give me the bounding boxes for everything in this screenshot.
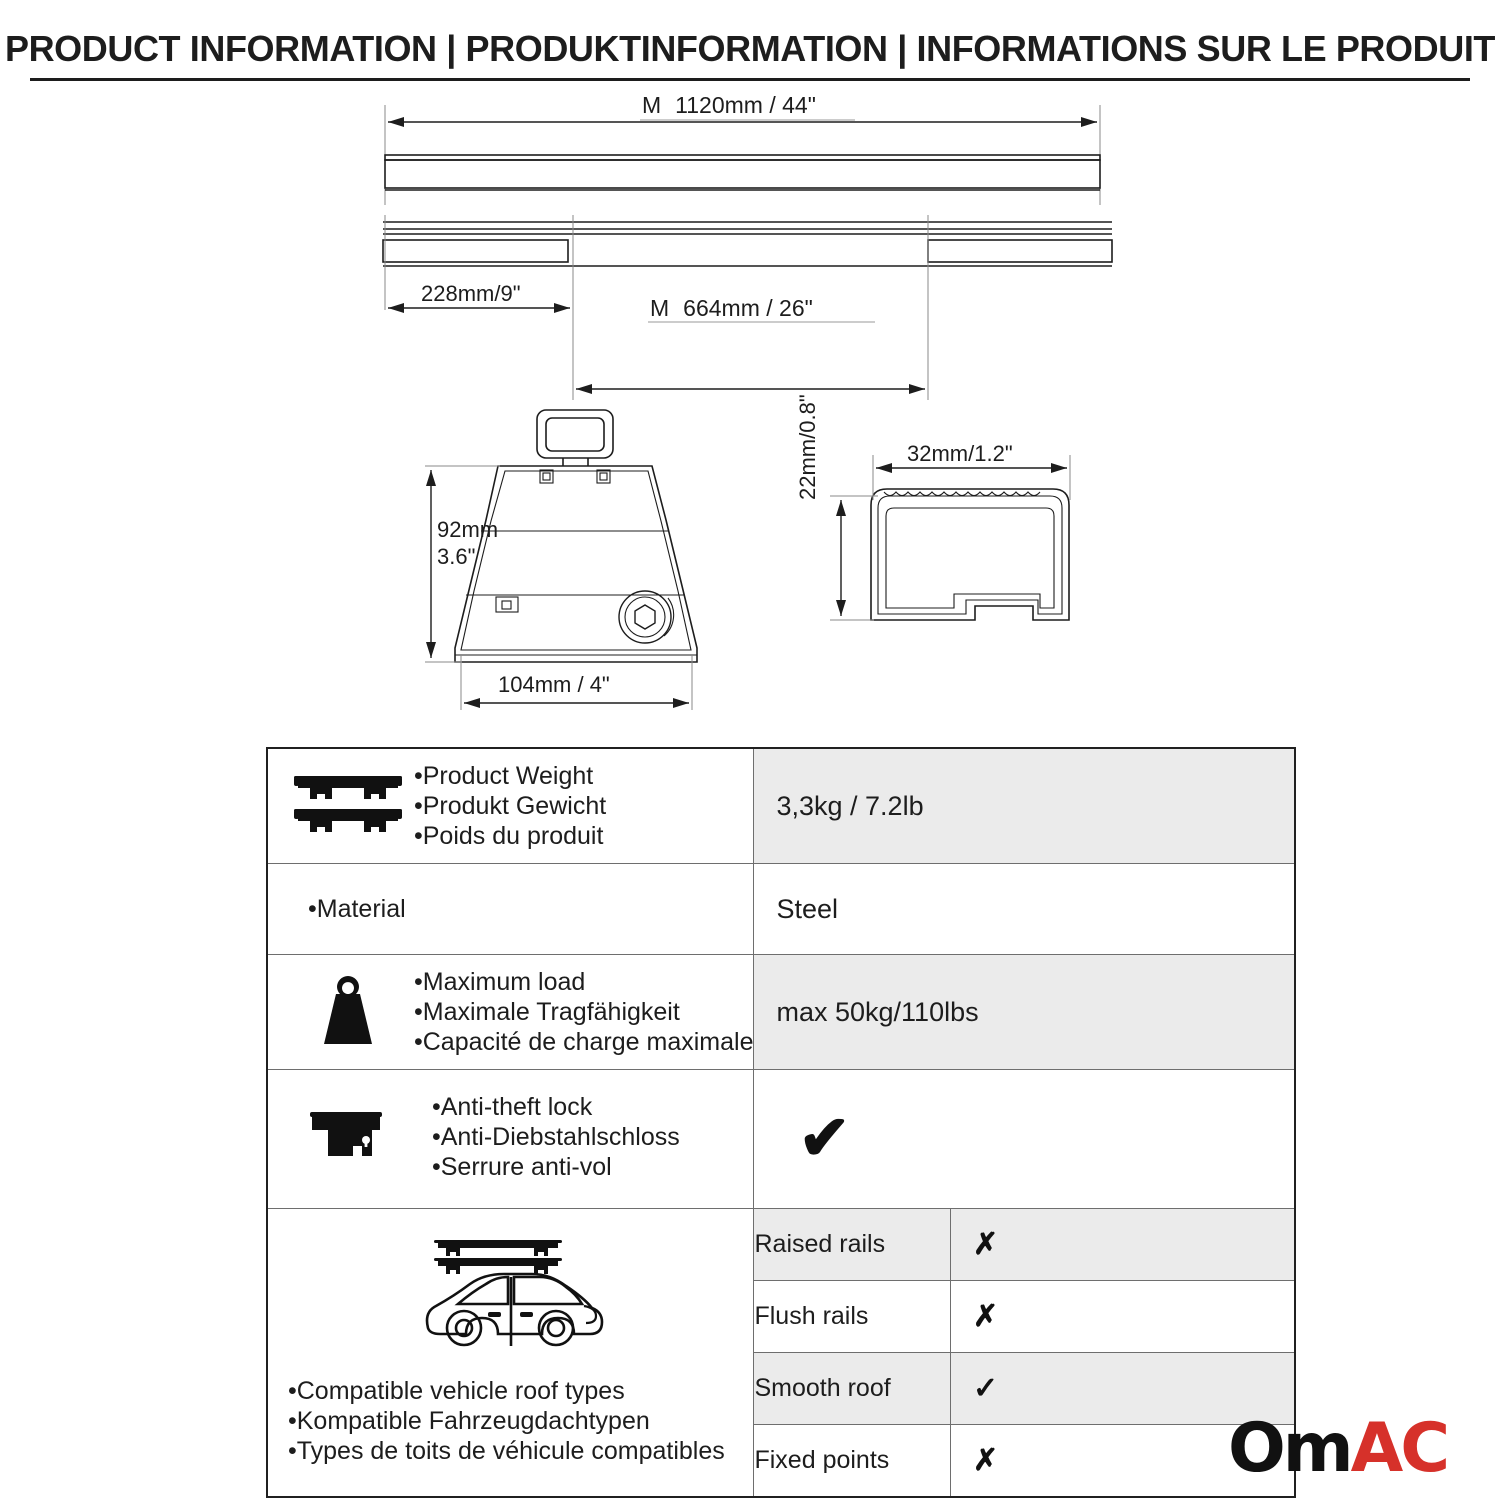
- label-line: •Anti-Diebstahlschloss: [432, 1122, 680, 1152]
- compatibility-name-raised-rails: Raised rails: [754, 1209, 950, 1281]
- omac-logo: OmAC: [1228, 1415, 1447, 1483]
- spec-label-compatibility: •Compatible vehicle roof types •Kompatib…: [276, 1376, 725, 1466]
- label-line: •Material: [308, 894, 406, 924]
- weight-kettlebell-icon: [282, 974, 414, 1050]
- compatibility-matrix: Raised rails ✗ Flush rails ✗: [754, 1209, 1294, 1496]
- spec-value-maxload: max 50kg/110lbs: [754, 955, 1295, 1070]
- crossbars-pair-icon: [282, 771, 414, 841]
- spec-label-cell-compatibility: •Compatible vehicle roof types •Kompatib…: [267, 1209, 754, 1498]
- compatibility-mark-raised-rails: ✗: [950, 1209, 1294, 1281]
- spec-label-cell-lock: •Anti-theft lock •Anti-Diebstahlschloss …: [267, 1070, 754, 1209]
- table-row: •Anti-theft lock •Anti-Diebstahlschloss …: [267, 1070, 1295, 1209]
- spec-label-maxload: •Maximum load •Maximale Tragfähigkeit •C…: [414, 967, 753, 1057]
- dimension-profile-height: 22mm/0.8": [795, 394, 821, 500]
- technical-drawing: M1120mm / 44" 228mm/9" M664mm / 26" 92mm…: [0, 0, 1500, 740]
- table-row: •Product Weight •Produkt Gewicht •Poids …: [267, 748, 1295, 864]
- compatibility-row: Raised rails ✗: [754, 1209, 1294, 1281]
- spec-label-weight: •Product Weight •Produkt Gewicht •Poids …: [414, 761, 606, 851]
- table-row: •Maximum load •Maximale Tragfähigkeit •C…: [267, 955, 1295, 1070]
- dimension-value: 664mm / 26": [683, 295, 813, 321]
- dimension-prefix-m: M: [642, 92, 661, 118]
- compatibility-row: Flush rails ✗: [754, 1281, 1294, 1353]
- compatibility-row: Smooth roof ✓: [754, 1353, 1294, 1425]
- compatibility-name-flush-rails: Flush rails: [754, 1281, 950, 1353]
- dimension-bar-length: M1120mm / 44": [642, 92, 816, 119]
- lock-icon: [282, 1108, 414, 1166]
- label-line: •Types de toits de véhicule compatibles: [288, 1436, 725, 1466]
- spec-label-cell-weight: •Product Weight •Produkt Gewicht •Poids …: [267, 748, 754, 864]
- car-with-roof-rack-icon: [416, 1236, 606, 1360]
- compatibility-row: Fixed points ✗: [754, 1425, 1294, 1497]
- cross-icon: ✗: [951, 1228, 998, 1261]
- specification-table: •Product Weight •Produkt Gewicht •Poids …: [266, 747, 1296, 1498]
- table-row: •Compatible vehicle roof types •Kompatib…: [267, 1209, 1295, 1498]
- label-line: •Maximum load: [414, 967, 753, 997]
- spec-value-weight: 3,3kg / 7.2lb: [754, 748, 1295, 864]
- dimension-value: 1120mm / 44": [675, 92, 816, 118]
- check-icon: ✔: [776, 1108, 1294, 1170]
- logo-text-dark: Om: [1228, 1409, 1351, 1488]
- spec-label-cell-maxload: •Maximum load •Maximale Tragfähigkeit •C…: [267, 955, 754, 1070]
- label-line: •Capacité de charge maximale: [414, 1027, 753, 1057]
- label-line: •Serrure anti-vol: [432, 1152, 680, 1182]
- label-line: •Produkt Gewicht: [414, 791, 606, 821]
- label-line: •Poids du produit: [414, 821, 606, 851]
- cross-icon: ✗: [951, 1300, 998, 1333]
- spec-label-material: •Material: [282, 894, 406, 924]
- dimension-profile-width: 32mm/1.2": [907, 441, 1013, 467]
- compatibility-mark-flush-rails: ✗: [950, 1281, 1294, 1353]
- check-icon: ✓: [951, 1372, 998, 1405]
- compatibility-name-smooth-roof: Smooth roof: [754, 1353, 950, 1425]
- dimension-prefix-m: M: [650, 295, 669, 321]
- dimension-foot-offset: 228mm/9": [421, 281, 521, 307]
- dimension-foot-height: 92mm 3.6": [437, 516, 498, 570]
- label-line: •Anti-theft lock: [432, 1092, 680, 1122]
- cross-icon: ✗: [951, 1444, 998, 1477]
- dimension-foot-height-mm: 92mm: [437, 516, 498, 543]
- dimension-foot-width: 104mm / 4": [498, 672, 610, 698]
- label-line: •Maximale Tragfähigkeit: [414, 997, 753, 1027]
- logo-text-accent: AC: [1351, 1409, 1448, 1488]
- table-row: •Material Steel: [267, 864, 1295, 955]
- spec-value-material: Steel: [754, 864, 1295, 955]
- label-line: •Kompatible Fahrzeugdachtypen: [288, 1406, 725, 1436]
- dimension-foot-height-in: 3.6": [437, 543, 498, 570]
- spec-label-cell-material: •Material: [267, 864, 754, 955]
- label-line: •Product Weight: [414, 761, 606, 791]
- spec-value-lock: ✔: [754, 1070, 1295, 1209]
- dimension-foot-spacing: M664mm / 26": [650, 295, 813, 322]
- spec-label-lock: •Anti-theft lock •Anti-Diebstahlschloss …: [414, 1092, 680, 1182]
- compatibility-name-fixed-points: Fixed points: [754, 1425, 950, 1497]
- label-line: •Compatible vehicle roof types: [288, 1376, 725, 1406]
- compatibility-matrix-cell: Raised rails ✗ Flush rails ✗: [754, 1209, 1295, 1498]
